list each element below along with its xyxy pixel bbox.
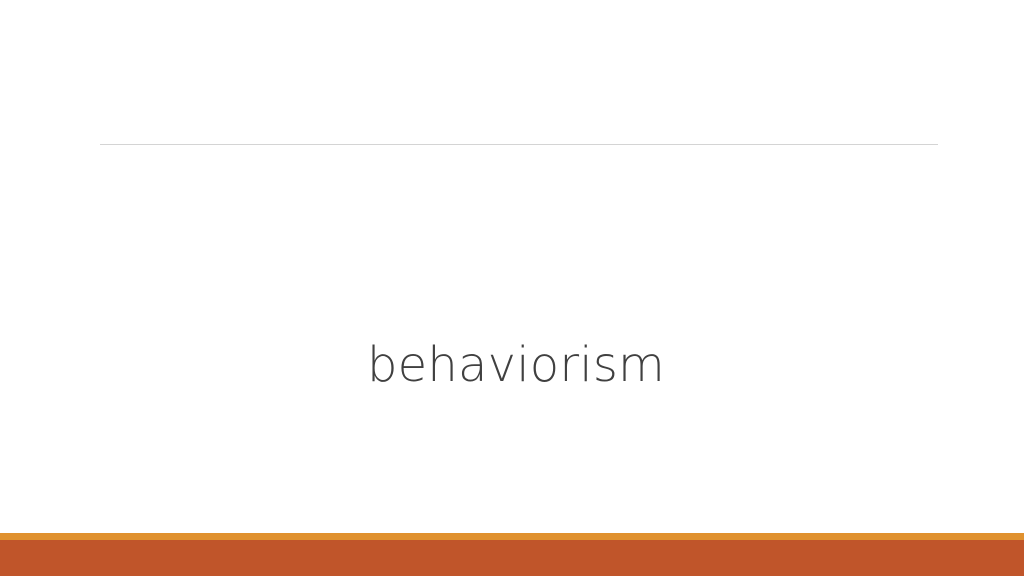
title-block: behaviorism bbox=[0, 310, 1024, 420]
footer-accent-strip bbox=[0, 533, 1024, 540]
page-title: behaviorism bbox=[359, 339, 665, 392]
footer-accent-bar bbox=[0, 540, 1024, 576]
presentation-slide: behaviorism bbox=[0, 0, 1024, 576]
title-divider-rule bbox=[100, 144, 938, 145]
